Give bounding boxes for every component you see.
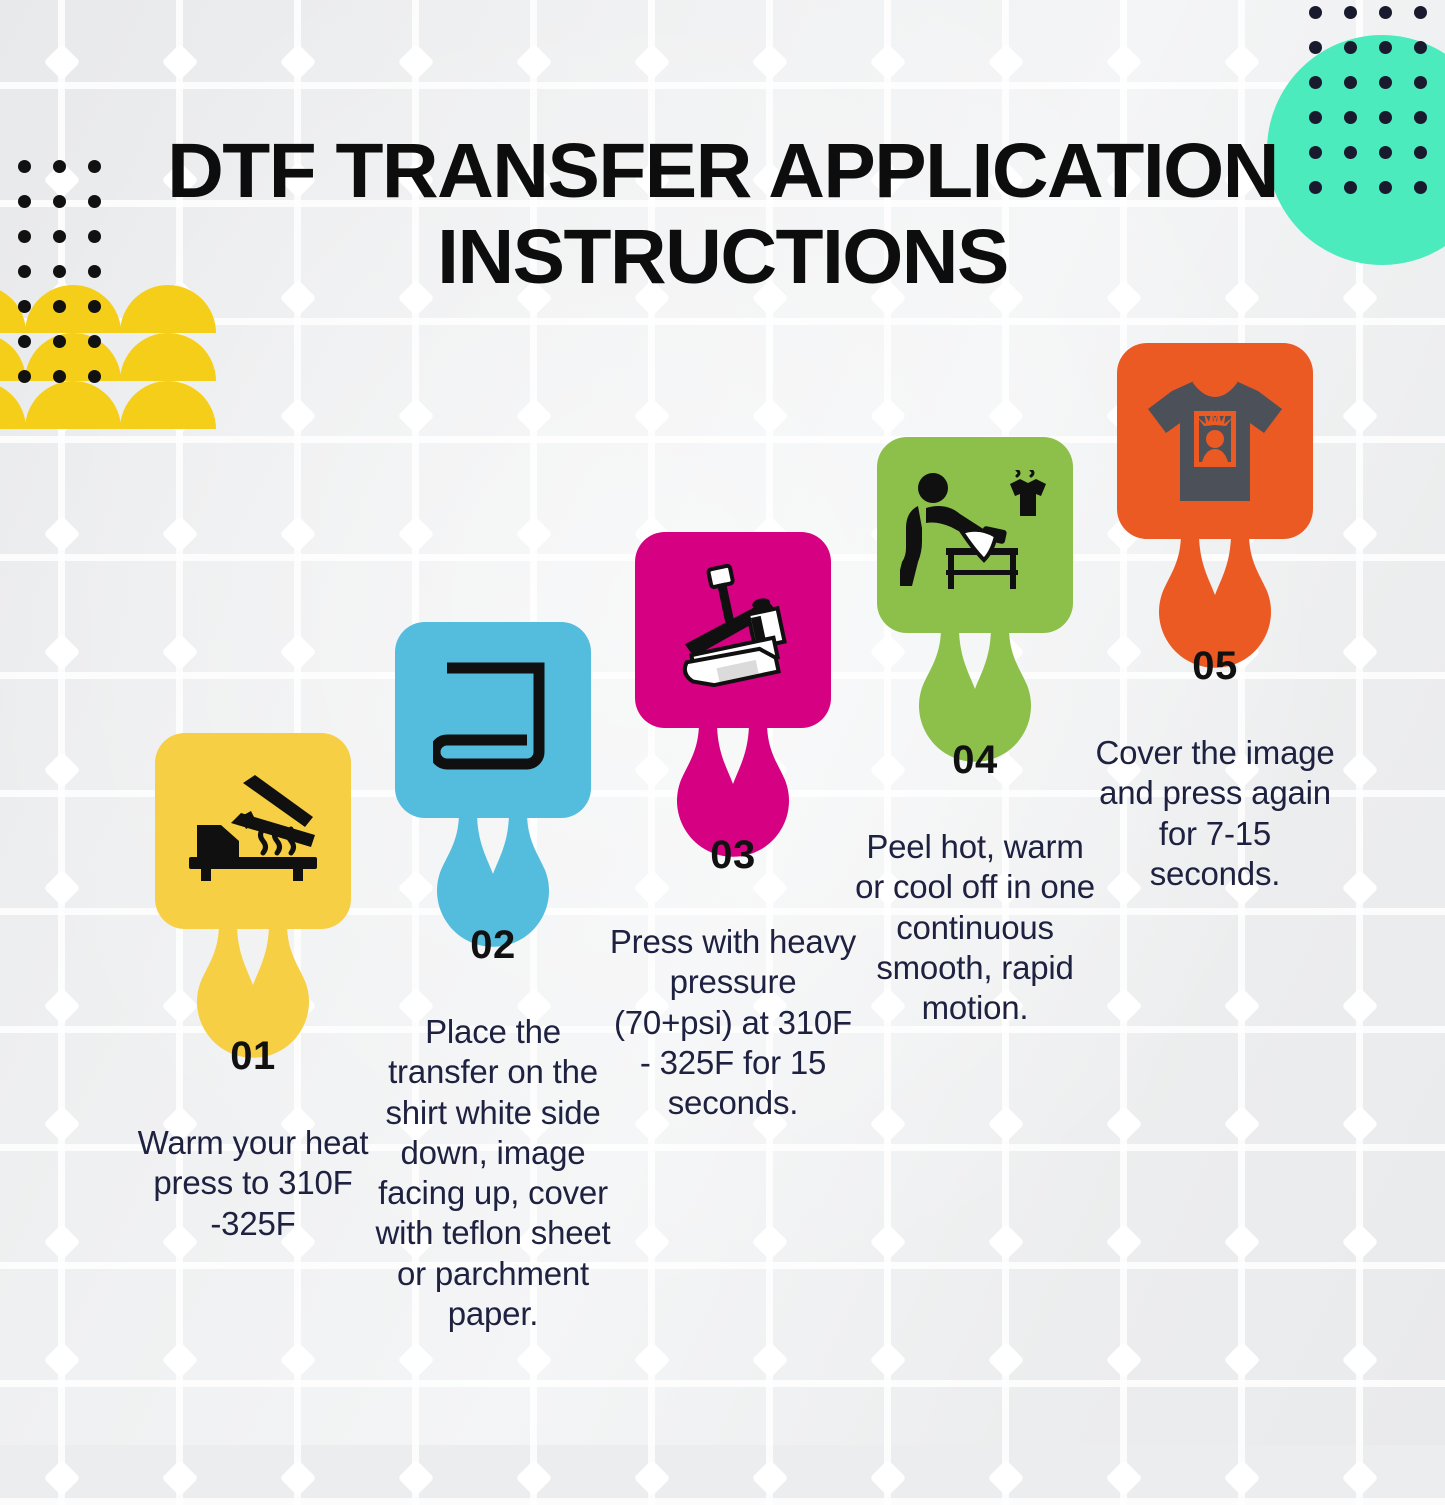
step-connector-01: 01 (155, 923, 351, 1109)
person-peeling-transfer-icon (900, 470, 1050, 600)
printed-tshirt-icon (1142, 373, 1288, 509)
step-number-05: 05 (1117, 644, 1313, 689)
step-04: 04Peel hot, warm or cool off in one cont… (850, 437, 1100, 1028)
transfer-sheet-icon (433, 660, 553, 780)
step-icon-card-01 (155, 733, 351, 929)
step-icon-card-03 (635, 532, 831, 728)
step-number-02: 02 (395, 923, 591, 968)
page-title: DTF TRANSFER APPLICATION INSTRUCTIONS (0, 128, 1445, 300)
step-connector (1117, 533, 1313, 719)
step-caption-05: Cover the image and press again for 7-15… (1090, 733, 1340, 894)
step-icon-card-04 (877, 437, 1073, 633)
step-connector (877, 627, 1073, 813)
step-connector-02: 02 (395, 812, 591, 998)
step-icon-card-02 (395, 622, 591, 818)
page-title-line-1: DTF TRANSFER APPLICATION (139, 128, 1307, 214)
step-caption-01: Warm your heat press to 310F -325F (128, 1123, 378, 1244)
heat-press-open-icon (185, 773, 321, 889)
step-connector-05: 05 (1117, 533, 1313, 719)
step-connector (635, 722, 831, 908)
step-connector-03: 03 (635, 722, 831, 908)
step-caption-03: Press with heavy pressure (70+psi) at 31… (608, 922, 858, 1123)
heat-press-machine-icon (663, 560, 803, 700)
step-caption-04: Peel hot, warm or cool off in one contin… (850, 827, 1100, 1028)
step-05: 05Cover the image and press again for 7-… (1090, 343, 1340, 894)
step-number-04: 04 (877, 738, 1073, 783)
step-03: 03Press with heavy pressure (70+psi) at … (608, 532, 858, 1123)
step-02: 02Place the transfer on the shirt white … (368, 622, 618, 1334)
person-peeling-transfer-icon (900, 470, 1050, 600)
page-title-line-2: INSTRUCTIONS (139, 214, 1307, 300)
step-number-03: 03 (635, 833, 831, 878)
heat-press-open-icon (185, 773, 321, 889)
step-caption-02: Place the transfer on the shirt white si… (368, 1012, 618, 1334)
printed-tshirt-icon (1142, 373, 1288, 509)
heat-press-machine-icon (663, 560, 803, 700)
step-icon-card-05 (1117, 343, 1313, 539)
step-01: 01Warm your heat press to 310F -325F (128, 733, 378, 1244)
step-connector-04: 04 (877, 627, 1073, 813)
step-connector (395, 812, 591, 998)
step-number-01: 01 (155, 1034, 351, 1079)
step-connector (155, 923, 351, 1109)
transfer-sheet-icon (433, 660, 553, 780)
